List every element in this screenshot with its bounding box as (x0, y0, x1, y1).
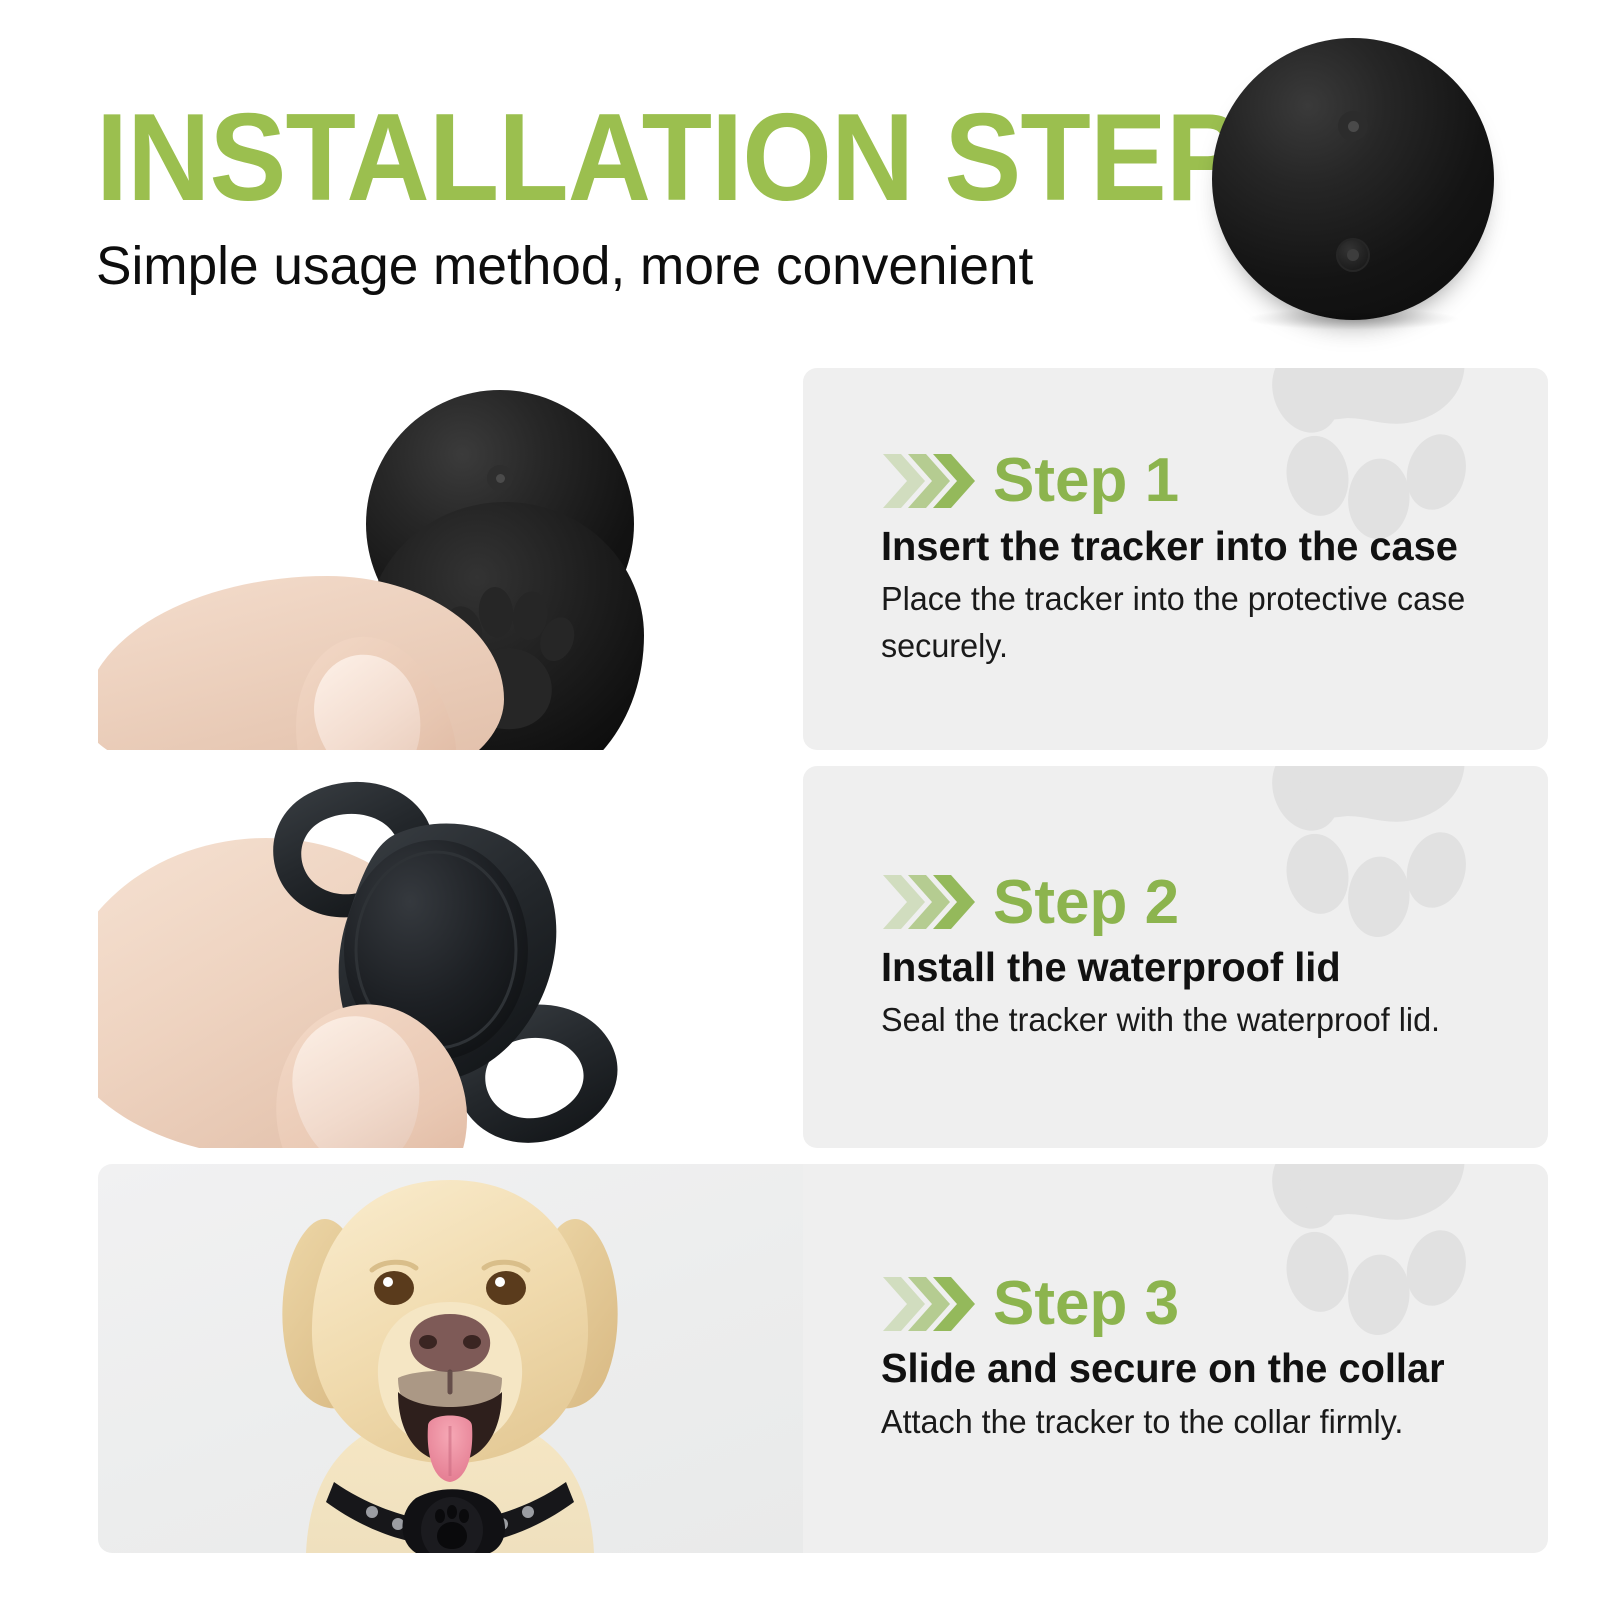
step-1-photo (98, 368, 803, 750)
triple-chevron-right-icon (881, 452, 975, 510)
step-3-description: Attach the tracker to the collar firmly. (881, 1399, 1535, 1446)
page-header: INSTALLATION STEPS Simple usage method, … (96, 96, 1196, 311)
step-2-photo (98, 766, 803, 1148)
step-row-2: Step 2 Install the waterproof lid Seal t… (98, 766, 1548, 1148)
page-subtitle: Simple usage method, more convenient (96, 238, 1180, 295)
tracker-body (1212, 38, 1494, 320)
step-1-description: Place the tracker into the protective ca… (881, 576, 1469, 670)
triple-chevron-right-icon (881, 873, 975, 931)
step-row-3: Step 3 Slide and secure on the collar At… (98, 1164, 1548, 1553)
step-3-heading: Step 3 (881, 1271, 1548, 1336)
power-button-icon (1336, 238, 1370, 272)
step-3-title: Slide and secure on the collar (881, 1344, 1528, 1392)
speaker-grille-icon (487, 465, 513, 491)
step-1-card: Step 1 Insert the tracker into the case … (803, 368, 1548, 750)
step-1-title: Insert the tracker into the case (881, 522, 1528, 570)
step-1-label: Step 1 (993, 448, 1179, 513)
step-3-photo (98, 1164, 803, 1553)
step-3-label: Step 3 (993, 1271, 1179, 1336)
labrador-dog-image (98, 1164, 803, 1553)
speaker-grille-icon (1338, 111, 1368, 141)
step-2-card: Step 2 Install the waterproof lid Seal t… (803, 766, 1548, 1148)
device-shadow (1246, 308, 1460, 330)
step-2-title: Install the waterproof lid (881, 943, 1528, 991)
step-2-description: Seal the tracker with the waterproof lid… (881, 997, 1535, 1044)
step-2-label: Step 2 (993, 870, 1179, 935)
step-row-1: Step 1 Insert the tracker into the case … (98, 368, 1548, 750)
hero-tracker-device (1212, 38, 1494, 320)
triple-chevron-right-icon (881, 1275, 975, 1333)
step-3-card: Step 3 Slide and secure on the collar At… (803, 1164, 1548, 1553)
step-2-heading: Step 2 (881, 870, 1548, 935)
step-1-heading: Step 1 (881, 448, 1548, 513)
page-title: INSTALLATION STEPS (96, 96, 1119, 220)
